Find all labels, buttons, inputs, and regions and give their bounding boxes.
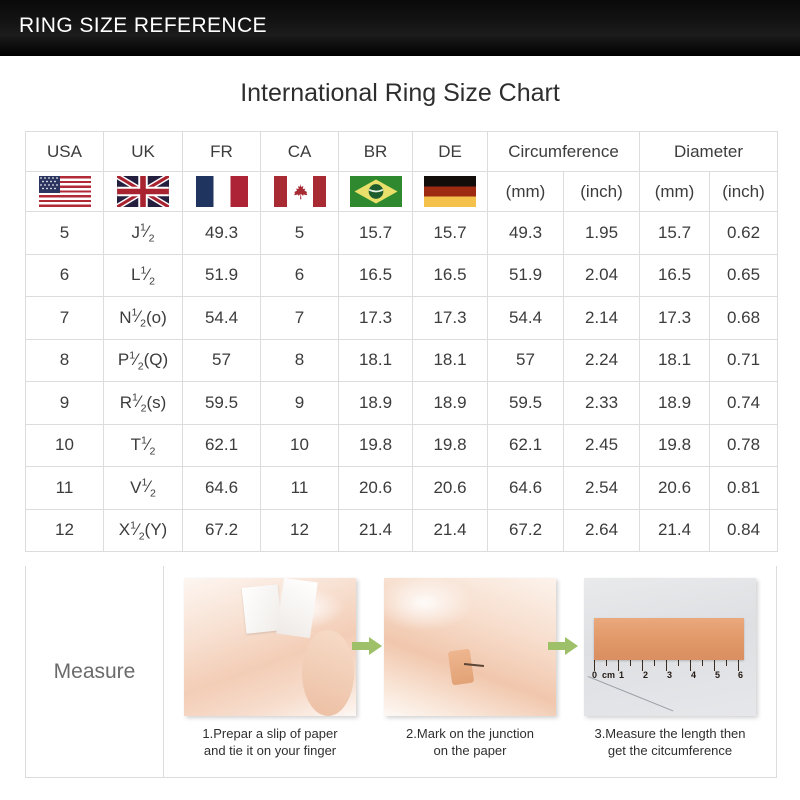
cell-diameter-inch: 0.81 xyxy=(710,467,778,510)
cell-uk: P1⁄2(Q) xyxy=(104,339,183,382)
cell-ca: 12 xyxy=(261,509,339,552)
flag-de-icon xyxy=(424,176,476,207)
cell-usa: 8 xyxy=(26,339,104,382)
table-row: 11V1⁄264.61120.620.664.62.5420.60.81 xyxy=(26,467,778,510)
size-table-container: USA UK FR CA BR DE Circumference Diamete… xyxy=(25,131,777,552)
cell-diameter-mm: 21.4 xyxy=(640,509,710,552)
flag-uk-icon xyxy=(117,176,169,207)
uk-fraction-denominator: 2 xyxy=(139,530,145,542)
cell-ca: 11 xyxy=(261,467,339,510)
table-row: 10T1⁄262.11019.819.862.12.4519.80.78 xyxy=(26,424,778,467)
cell-circumference-inch: 2.14 xyxy=(564,297,640,340)
cell-ca: 7 xyxy=(261,297,339,340)
page-title: International Ring Size Chart xyxy=(0,79,800,108)
measure-label-cell: Measure xyxy=(25,566,164,778)
measure-step-3-caption-line2: get the citcumference xyxy=(578,742,763,759)
cell-ca: 10 xyxy=(261,424,339,467)
uk-size-letter: V xyxy=(130,478,141,497)
cell-diameter-inch: 0.78 xyxy=(710,424,778,467)
cell-circumference-mm: 54.4 xyxy=(488,297,564,340)
cell-circumference-mm: 62.1 xyxy=(488,424,564,467)
measure-step-2-caption-line1: 2.Mark on the junction xyxy=(378,725,563,742)
table-row: 12X1⁄2(Y)67.21221.421.467.22.6421.40.84 xyxy=(26,509,778,552)
cell-usa: 10 xyxy=(26,424,104,467)
cell-circumference-mm: 51.9 xyxy=(488,254,564,297)
uk-size-suffix: (o) xyxy=(146,308,167,327)
uk-size-fraction: 1⁄2 xyxy=(129,350,143,370)
cell-circumference-inch: 2.33 xyxy=(564,382,640,425)
cell-diameter-inch: 0.62 xyxy=(710,212,778,255)
cell-uk: V1⁄2 xyxy=(104,467,183,510)
cell-diameter-mm: 16.5 xyxy=(640,254,710,297)
measure-step-2-caption-line2: on the paper xyxy=(378,742,563,759)
cell-circumference-mm: 57 xyxy=(488,339,564,382)
cell-br: 18.9 xyxy=(339,382,413,425)
column-header-fr: FR xyxy=(183,132,261,172)
ruler-label-4: 4 xyxy=(691,670,696,680)
flag-cell-de xyxy=(413,172,488,212)
ruler-label-6: 6 xyxy=(738,670,743,680)
cell-br: 15.7 xyxy=(339,212,413,255)
measure-step-3-caption-line1: 3.Measure the length then xyxy=(578,725,763,742)
cell-de: 15.7 xyxy=(413,212,488,255)
uk-size-letter: X xyxy=(119,520,130,539)
cell-ca: 8 xyxy=(261,339,339,382)
cell-fr: 49.3 xyxy=(183,212,261,255)
cell-br: 19.8 xyxy=(339,424,413,467)
banner-title: RING SIZE REFERENCE xyxy=(19,14,267,38)
cell-circumference-mm: 49.3 xyxy=(488,212,564,255)
ring-size-reference-page: RING SIZE REFERENCE International Ring S… xyxy=(0,0,800,800)
cell-diameter-inch: 0.74 xyxy=(710,382,778,425)
cell-fr: 51.9 xyxy=(183,254,261,297)
uk-size-fraction: 1⁄2 xyxy=(141,435,155,455)
cell-de: 21.4 xyxy=(413,509,488,552)
uk-size-fraction: 1⁄2 xyxy=(132,307,146,327)
unit-diameter-mm: (mm) xyxy=(640,172,710,212)
flag-cell-fr xyxy=(183,172,261,212)
flag-ca-icon xyxy=(274,176,326,207)
flag-cell-br xyxy=(339,172,413,212)
cell-uk: T1⁄2 xyxy=(104,424,183,467)
flag-br-icon xyxy=(350,176,402,207)
cell-de: 20.6 xyxy=(413,467,488,510)
ruler-number-labels: 0 cm 1 2 3 4 5 6 xyxy=(592,670,748,684)
cell-usa: 5 xyxy=(26,212,104,255)
uk-fraction-denominator: 2 xyxy=(141,403,147,415)
cell-uk: J1⁄2 xyxy=(104,212,183,255)
measure-step-1: 1.Prepar a slip of paper and tie it on y… xyxy=(179,578,361,759)
cell-circumference-mm: 59.5 xyxy=(488,382,564,425)
ruler-label-5: 5 xyxy=(715,670,720,680)
table-row: 9R1⁄2(s)59.5918.918.959.52.3318.90.74 xyxy=(26,382,778,425)
cell-circumference-inch: 2.54 xyxy=(564,467,640,510)
uk-size-letter: P xyxy=(118,350,129,369)
cell-br: 18.1 xyxy=(339,339,413,382)
ruler-label-cm: cm xyxy=(602,670,615,680)
cell-ca: 5 xyxy=(261,212,339,255)
cell-ca: 6 xyxy=(261,254,339,297)
right-arrow-icon xyxy=(548,636,578,656)
flag-usa-icon xyxy=(39,176,91,207)
uk-size-suffix: (Y) xyxy=(145,520,168,539)
table-row: 8P1⁄2(Q)57818.118.1572.2418.10.71 xyxy=(26,339,778,382)
cell-de: 17.3 xyxy=(413,297,488,340)
measure-step-3-caption: 3.Measure the length then get the citcum… xyxy=(578,725,763,759)
cell-diameter-mm: 20.6 xyxy=(640,467,710,510)
cell-br: 21.4 xyxy=(339,509,413,552)
uk-size-suffix: (s) xyxy=(146,393,166,412)
cell-br: 17.3 xyxy=(339,297,413,340)
cell-de: 18.9 xyxy=(413,382,488,425)
column-header-circumference: Circumference xyxy=(488,132,640,172)
uk-size-fraction: 1⁄2 xyxy=(130,520,144,540)
table-header-row: USA UK FR CA BR DE Circumference Diamete… xyxy=(26,132,778,172)
cell-diameter-inch: 0.68 xyxy=(710,297,778,340)
uk-fraction-denominator: 2 xyxy=(150,488,156,500)
cell-circumference-inch: 2.04 xyxy=(564,254,640,297)
cell-fr: 54.4 xyxy=(183,297,261,340)
uk-size-letter: T xyxy=(131,435,141,454)
uk-size-letter: L xyxy=(131,265,140,284)
uk-fraction-denominator: 2 xyxy=(140,318,146,330)
cell-usa: 12 xyxy=(26,509,104,552)
cell-circumference-inch: 2.24 xyxy=(564,339,640,382)
cell-usa: 9 xyxy=(26,382,104,425)
cell-fr: 59.5 xyxy=(183,382,261,425)
column-header-usa: USA xyxy=(26,132,104,172)
column-header-br: BR xyxy=(339,132,413,172)
cell-diameter-mm: 18.9 xyxy=(640,382,710,425)
flag-cell-ca xyxy=(261,172,339,212)
measure-label: Measure xyxy=(54,660,136,684)
ring-size-table: USA UK FR CA BR DE Circumference Diamete… xyxy=(25,131,778,552)
measure-step-1-caption-line2: and tie it on your finger xyxy=(178,742,363,759)
cell-uk: R1⁄2(s) xyxy=(104,382,183,425)
ruler-label-2: 2 xyxy=(643,670,648,680)
uk-size-letter: J xyxy=(132,223,141,242)
column-header-uk: UK xyxy=(104,132,183,172)
ruler-label-3: 3 xyxy=(667,670,672,680)
table-flag-row: (mm) (inch) (mm) (inch) xyxy=(26,172,778,212)
cell-circumference-mm: 64.6 xyxy=(488,467,564,510)
flag-cell-uk xyxy=(104,172,183,212)
right-arrow-icon xyxy=(352,636,382,656)
uk-fraction-denominator: 2 xyxy=(138,360,144,372)
column-header-diameter: Diameter xyxy=(640,132,778,172)
cell-de: 19.8 xyxy=(413,424,488,467)
cell-usa: 11 xyxy=(26,467,104,510)
column-header-de: DE xyxy=(413,132,488,172)
cell-br: 20.6 xyxy=(339,467,413,510)
unit-diameter-inch: (inch) xyxy=(710,172,778,212)
maple-leaf-icon xyxy=(291,183,308,201)
cell-circumference-inch: 2.45 xyxy=(564,424,640,467)
cell-circumference-inch: 1.95 xyxy=(564,212,640,255)
measure-step-1-caption: 1.Prepar a slip of paper and tie it on y… xyxy=(178,725,363,759)
measure-step-2-caption: 2.Mark on the junction on the paper xyxy=(378,725,563,759)
cell-diameter-mm: 17.3 xyxy=(640,297,710,340)
uk-size-fraction: 1⁄2 xyxy=(140,222,154,242)
table-row: 7N1⁄2(o)54.4717.317.354.42.1417.30.68 xyxy=(26,297,778,340)
column-header-ca: CA xyxy=(261,132,339,172)
cell-br: 16.5 xyxy=(339,254,413,297)
cell-ca: 9 xyxy=(261,382,339,425)
cell-circumference-inch: 2.64 xyxy=(564,509,640,552)
cell-usa: 7 xyxy=(26,297,104,340)
cell-de: 16.5 xyxy=(413,254,488,297)
cell-fr: 64.6 xyxy=(183,467,261,510)
cell-diameter-inch: 0.71 xyxy=(710,339,778,382)
hand-with-paper-strip-photo xyxy=(184,578,356,716)
cell-diameter-inch: 0.84 xyxy=(710,509,778,552)
measure-steps-container: 1.Prepar a slip of paper and tie it on y… xyxy=(164,566,777,778)
unit-circumference-inch: (inch) xyxy=(564,172,640,212)
ruler-label-1: 1 xyxy=(619,670,624,680)
measure-step-3: 0 cm 1 2 3 4 5 6 3.Measure the length th… xyxy=(579,578,761,759)
unit-circumference-mm: (mm) xyxy=(488,172,564,212)
cell-diameter-mm: 15.7 xyxy=(640,212,710,255)
uk-fraction-denominator: 2 xyxy=(150,445,156,457)
uk-size-suffix: (Q) xyxy=(144,350,169,369)
header-banner: RING SIZE REFERENCE xyxy=(0,0,800,56)
uk-size-fraction: 1⁄2 xyxy=(141,265,155,285)
cell-diameter-inch: 0.65 xyxy=(710,254,778,297)
cell-diameter-mm: 18.1 xyxy=(640,339,710,382)
cell-fr: 62.1 xyxy=(183,424,261,467)
measure-section: Measure 1.Prepar a xyxy=(25,566,777,778)
cell-uk: X1⁄2(Y) xyxy=(104,509,183,552)
cell-usa: 6 xyxy=(26,254,104,297)
cell-fr: 57 xyxy=(183,339,261,382)
uk-fraction-denominator: 2 xyxy=(149,233,155,245)
uk-size-letter: N xyxy=(119,308,131,327)
cell-de: 18.1 xyxy=(413,339,488,382)
uk-size-fraction: 1⁄2 xyxy=(141,477,155,497)
uk-size-fraction: 1⁄2 xyxy=(132,392,146,412)
measure-step-1-caption-line1: 1.Prepar a slip of paper xyxy=(178,725,363,742)
table-row: 5J1⁄249.3515.715.749.31.9515.70.62 xyxy=(26,212,778,255)
hand-marking-paper-photo xyxy=(384,578,556,716)
cell-diameter-mm: 19.8 xyxy=(640,424,710,467)
ruler-measuring-photo: 0 cm 1 2 3 4 5 6 xyxy=(584,578,756,716)
cell-circumference-mm: 67.2 xyxy=(488,509,564,552)
cell-fr: 67.2 xyxy=(183,509,261,552)
flag-fr-icon xyxy=(196,176,248,207)
cell-uk: N1⁄2(o) xyxy=(104,297,183,340)
uk-size-letter: R xyxy=(120,393,132,412)
size-table-body: 5J1⁄249.3515.715.749.31.9515.70.626L1⁄25… xyxy=(26,212,778,552)
cell-uk: L1⁄2 xyxy=(104,254,183,297)
uk-fraction-denominator: 2 xyxy=(149,275,155,287)
table-row: 6L1⁄251.9616.516.551.92.0416.50.65 xyxy=(26,254,778,297)
flag-cell-usa xyxy=(26,172,104,212)
measure-step-2: 2.Mark on the junction on the paper xyxy=(379,578,561,759)
